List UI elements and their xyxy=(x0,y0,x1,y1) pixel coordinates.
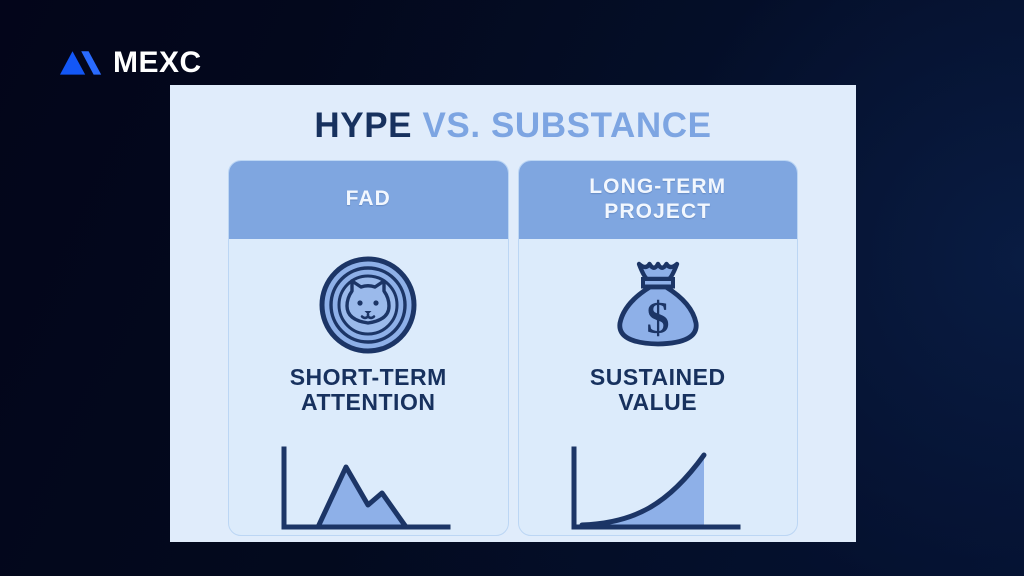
card-fad-header: FAD xyxy=(229,161,508,239)
card-long-term-project-label: SUSTAINED VALUE xyxy=(590,365,726,417)
svg-text:$: $ xyxy=(646,292,669,343)
money-bag-dollar-icon: $ xyxy=(606,251,710,359)
page-title-primary: HYPE xyxy=(314,106,412,145)
spike-decline-area-chart xyxy=(229,443,508,535)
exponential-growth-area-chart xyxy=(519,443,798,535)
comparison-cards: FAD SHOR xyxy=(170,146,856,536)
card-fad-header-label: FAD xyxy=(346,187,391,211)
card-long-term-project-header-line1: LONG-TERM xyxy=(589,175,726,199)
mexc-triangle-logo-icon xyxy=(58,49,102,77)
card-long-term-project-label-line2: VALUE xyxy=(590,390,726,416)
infographic-panel: HYPE VS. SUBSTANCE FAD xyxy=(170,85,856,542)
card-fad-label-line2: ATTENTION xyxy=(290,390,447,416)
card-fad-label: SHORT-TERM ATTENTION xyxy=(290,365,447,417)
page-title: HYPE VS. SUBSTANCE xyxy=(170,85,856,146)
card-long-term-project: LONG-TERM PROJECT $ xyxy=(518,160,799,536)
page-title-secondary: VS. SUBSTANCE xyxy=(422,106,711,145)
card-long-term-project-header-label: LONG-TERM PROJECT xyxy=(589,175,726,223)
card-long-term-project-label-line1: SUSTAINED xyxy=(590,365,726,391)
card-long-term-project-body: $ SUSTAINED VALUE xyxy=(519,239,798,535)
card-fad-body: SHORT-TERM ATTENTION xyxy=(229,239,508,535)
dog-coin-icon xyxy=(316,251,420,359)
card-long-term-project-header-line2: PROJECT xyxy=(589,200,726,224)
card-fad-label-line1: SHORT-TERM xyxy=(290,365,447,391)
brand-name: MEXC xyxy=(113,48,202,78)
brand-lockup: MEXC xyxy=(58,48,202,78)
card-fad: FAD SHOR xyxy=(228,160,509,536)
card-long-term-project-header: LONG-TERM PROJECT xyxy=(519,161,798,239)
